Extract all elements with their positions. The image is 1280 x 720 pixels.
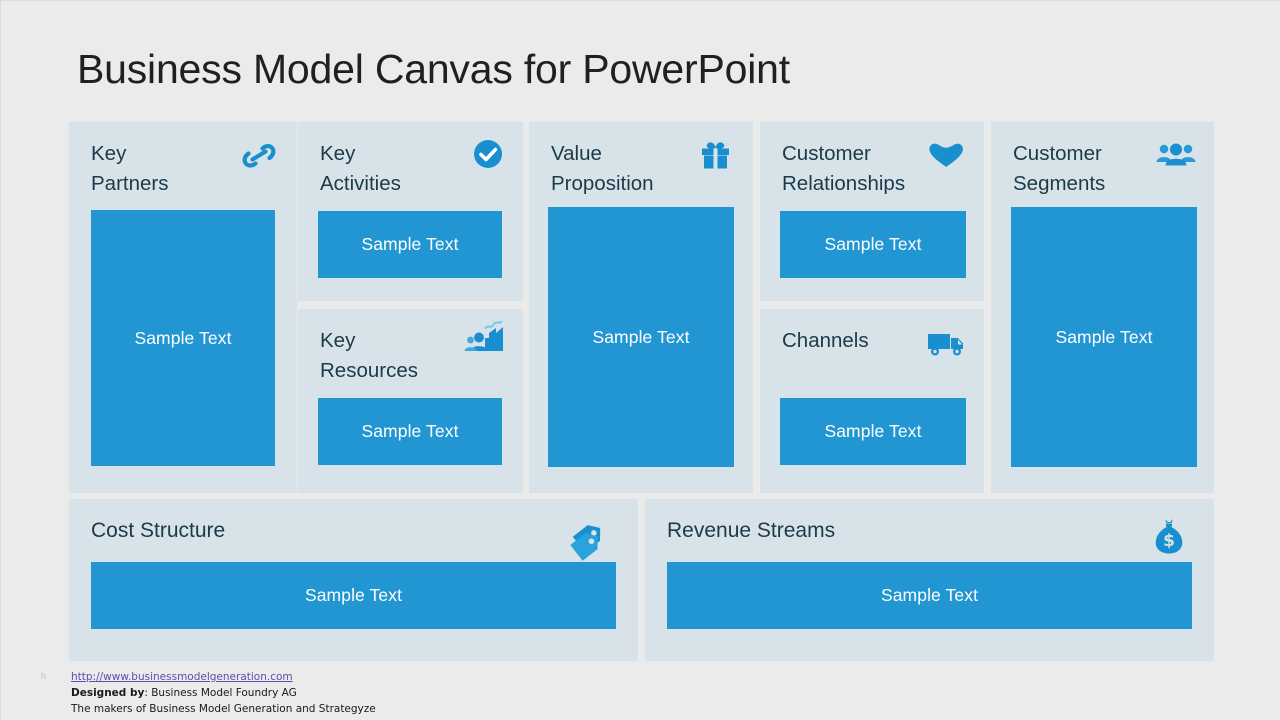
block-channels-sample[interactable]: Sample Text	[780, 398, 966, 465]
business-model-canvas-grid: Key Partners Sample Text Key Activities	[69, 122, 1214, 661]
block-channels[interactable]: Channels Sample Text	[760, 309, 984, 493]
footer-designed-by-value: : Business Model Foundry AG	[144, 687, 296, 699]
footer-designed-by-label: Designed by	[71, 687, 144, 699]
block-revenue-streams-sample[interactable]: Sample Text	[667, 562, 1192, 629]
block-key-activities[interactable]: Key Activities Sample Text	[298, 122, 523, 301]
block-key-resources[interactable]: Key Resources Sample Text	[298, 309, 523, 493]
block-revenue-streams-title: Revenue Streams	[667, 517, 835, 545]
slide-corner-mark: h	[41, 671, 46, 681]
money-bag-icon: $	[1146, 516, 1192, 558]
sample-text-label: Sample Text	[824, 421, 921, 442]
footer-designed-by: Designed by: Business Model Foundry AG	[71, 685, 376, 701]
sample-text-label: Sample Text	[1055, 327, 1152, 348]
block-customer-relationships-sample[interactable]: Sample Text	[780, 211, 966, 278]
footer-link[interactable]: http://www.businessmodelgeneration.com	[71, 669, 376, 685]
delivery-truck-icon	[924, 328, 968, 364]
block-key-partners-sample[interactable]: Sample Text	[91, 210, 275, 466]
block-value-proposition-title: Value Proposition	[551, 139, 654, 199]
block-customer-segments-sample[interactable]: Sample Text	[1011, 207, 1197, 467]
people-group-icon	[1154, 138, 1198, 174]
svg-text:$: $	[1163, 531, 1175, 551]
sample-text-label: Sample Text	[824, 234, 921, 255]
factory-people-icon	[463, 321, 507, 357]
block-value-proposition-sample[interactable]: Sample Text	[548, 207, 734, 467]
block-key-activities-title: Key Activities	[320, 139, 401, 199]
sample-text-label: Sample Text	[592, 327, 689, 348]
block-channels-title: Channels	[782, 326, 869, 356]
block-cost-structure-title: Cost Structure	[91, 517, 225, 545]
check-circle-icon	[463, 138, 507, 174]
block-customer-relationships[interactable]: Customer Relationships Sample Text	[760, 122, 984, 301]
block-customer-segments[interactable]: Customer Segments Sample Text	[991, 122, 1214, 493]
block-key-resources-title: Key Resources	[320, 326, 418, 386]
sample-text-label: Sample Text	[361, 234, 458, 255]
sample-text-label: Sample Text	[881, 585, 978, 606]
block-cost-structure-sample[interactable]: Sample Text	[91, 562, 616, 629]
block-key-resources-sample[interactable]: Sample Text	[318, 398, 502, 465]
block-key-partners[interactable]: Key Partners Sample Text	[69, 122, 297, 493]
chain-link-icon	[237, 138, 281, 174]
gift-box-icon	[693, 138, 737, 174]
sample-text-label: Sample Text	[361, 421, 458, 442]
page-title: Business Model Canvas for PowerPoint	[77, 41, 790, 97]
block-key-activities-sample[interactable]: Sample Text	[318, 211, 502, 278]
sample-text-label: Sample Text	[305, 585, 402, 606]
block-key-partners-title: Key Partners	[91, 139, 168, 199]
block-customer-relationships-title: Customer Relationships	[782, 139, 905, 199]
block-revenue-streams[interactable]: Revenue Streams $ Sample Text	[645, 499, 1214, 661]
block-cost-structure[interactable]: Cost Structure Sample Text	[69, 499, 638, 661]
footer-makers: The makers of Business Model Generation …	[71, 701, 376, 717]
heart-icon	[924, 138, 968, 174]
price-tags-icon	[570, 519, 616, 561]
block-value-proposition[interactable]: Value Proposition Sample Text	[529, 122, 753, 493]
slide-canvas: Business Model Canvas for PowerPoint Key…	[0, 0, 1280, 720]
footer: http://www.businessmodelgeneration.com D…	[71, 669, 376, 717]
block-customer-segments-title: Customer Segments	[1013, 139, 1105, 199]
sample-text-label: Sample Text	[134, 328, 231, 349]
